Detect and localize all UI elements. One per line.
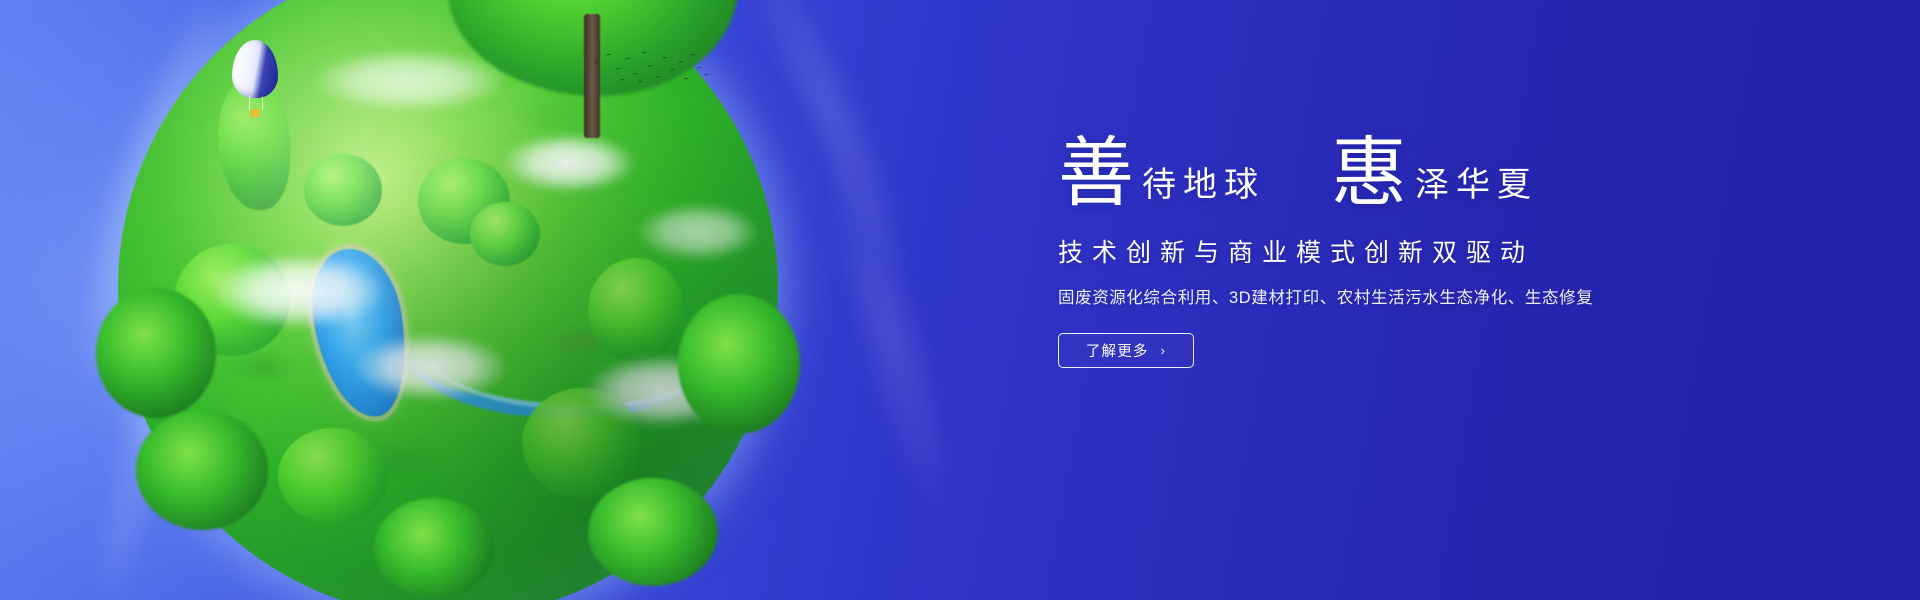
chevron-right-icon: › bbox=[1161, 344, 1167, 357]
headline-group-2: 惠 泽华夏 bbox=[1331, 136, 1538, 212]
hero-description: 固废资源化综合利用、3D建材打印、农村生活污水生态净化、生态修复 bbox=[1058, 287, 1818, 309]
page-title: 善 待地球 惠 泽华夏 bbox=[1058, 136, 1818, 216]
headline-small-text-1: 待地球 bbox=[1142, 169, 1265, 203]
rim-tree bbox=[374, 498, 494, 598]
hero-subtitle: 技术创新与商业模式创新双驱动 bbox=[1058, 240, 1818, 268]
rim-tree bbox=[96, 288, 216, 418]
hot-air-balloon-icon bbox=[232, 40, 278, 124]
balloon-basket bbox=[250, 109, 260, 117]
rim-tree bbox=[678, 294, 800, 434]
learn-more-label: 了解更多 bbox=[1086, 340, 1149, 361]
hero-banner: 善 待地球 惠 泽华夏 技术创新与商业模式创新双驱动 固废资源化综合利用、3D建… bbox=[0, 0, 1920, 600]
hero-content: 善 待地球 惠 泽华夏 技术创新与商业模式创新双驱动 固废资源化综合利用、3D建… bbox=[1058, 136, 1818, 368]
headline-big-char-1: 善 bbox=[1058, 136, 1134, 212]
rim-tree bbox=[136, 410, 268, 530]
balloon-envelope bbox=[232, 40, 278, 98]
headline-small-text-2: 泽华夏 bbox=[1415, 169, 1538, 203]
learn-more-button[interactable]: 了解更多 › bbox=[1058, 333, 1194, 368]
rim-tree bbox=[588, 478, 718, 586]
bird-flock bbox=[592, 48, 712, 92]
headline-big-char-2: 惠 bbox=[1331, 136, 1407, 212]
headline-group-1: 善 待地球 bbox=[1058, 136, 1265, 212]
